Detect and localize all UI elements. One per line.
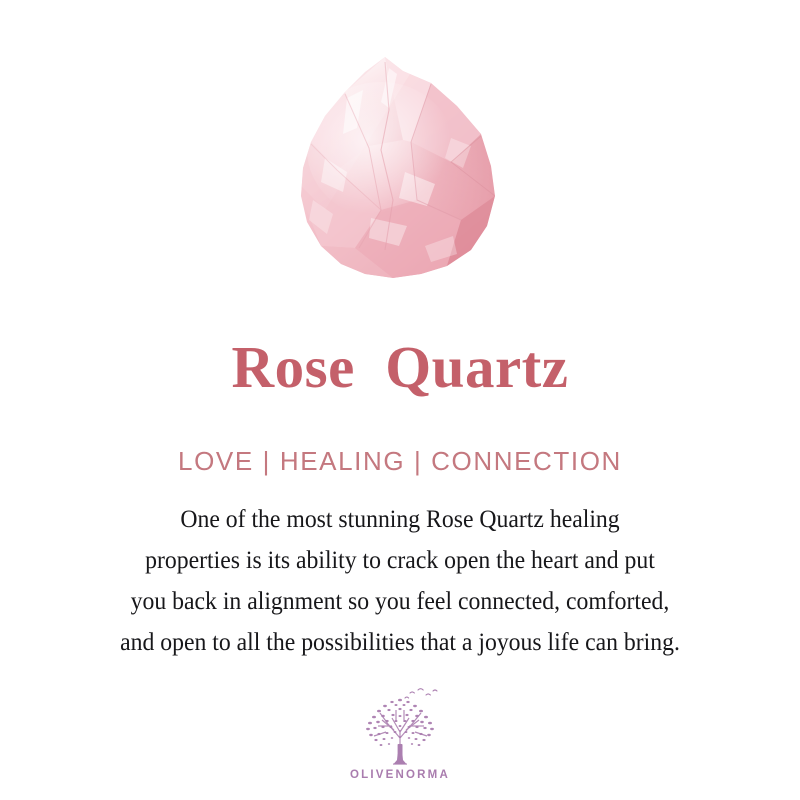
product-info-card: Rose Quartz LOVE | HEALING | CONNECTION … bbox=[0, 0, 800, 800]
brand-logo: OLIVENORMA bbox=[0, 686, 800, 781]
page-title: Rose Quartz bbox=[0, 334, 800, 400]
olivenorma-tree-logo bbox=[348, 686, 452, 766]
product-tagline: LOVE | HEALING | CONNECTION bbox=[0, 445, 800, 477]
tree-canopy bbox=[366, 699, 434, 765]
description-line: One of the most stunning Rose Quartz hea… bbox=[47, 498, 754, 539]
rose-quartz-crystal-image bbox=[285, 50, 515, 280]
product-description: One of the most stunning Rose Quartz hea… bbox=[47, 498, 754, 662]
description-line: and open to all the possibilities that a… bbox=[47, 621, 754, 662]
description-line: properties is its ability to crack open … bbox=[47, 539, 754, 580]
brand-name: OLIVENORMA bbox=[0, 769, 800, 781]
hero-image-container bbox=[0, 50, 800, 290]
description-line: you back in alignment so you feel connec… bbox=[47, 580, 754, 621]
crystal-body bbox=[285, 50, 515, 280]
birds-icon bbox=[405, 689, 437, 698]
